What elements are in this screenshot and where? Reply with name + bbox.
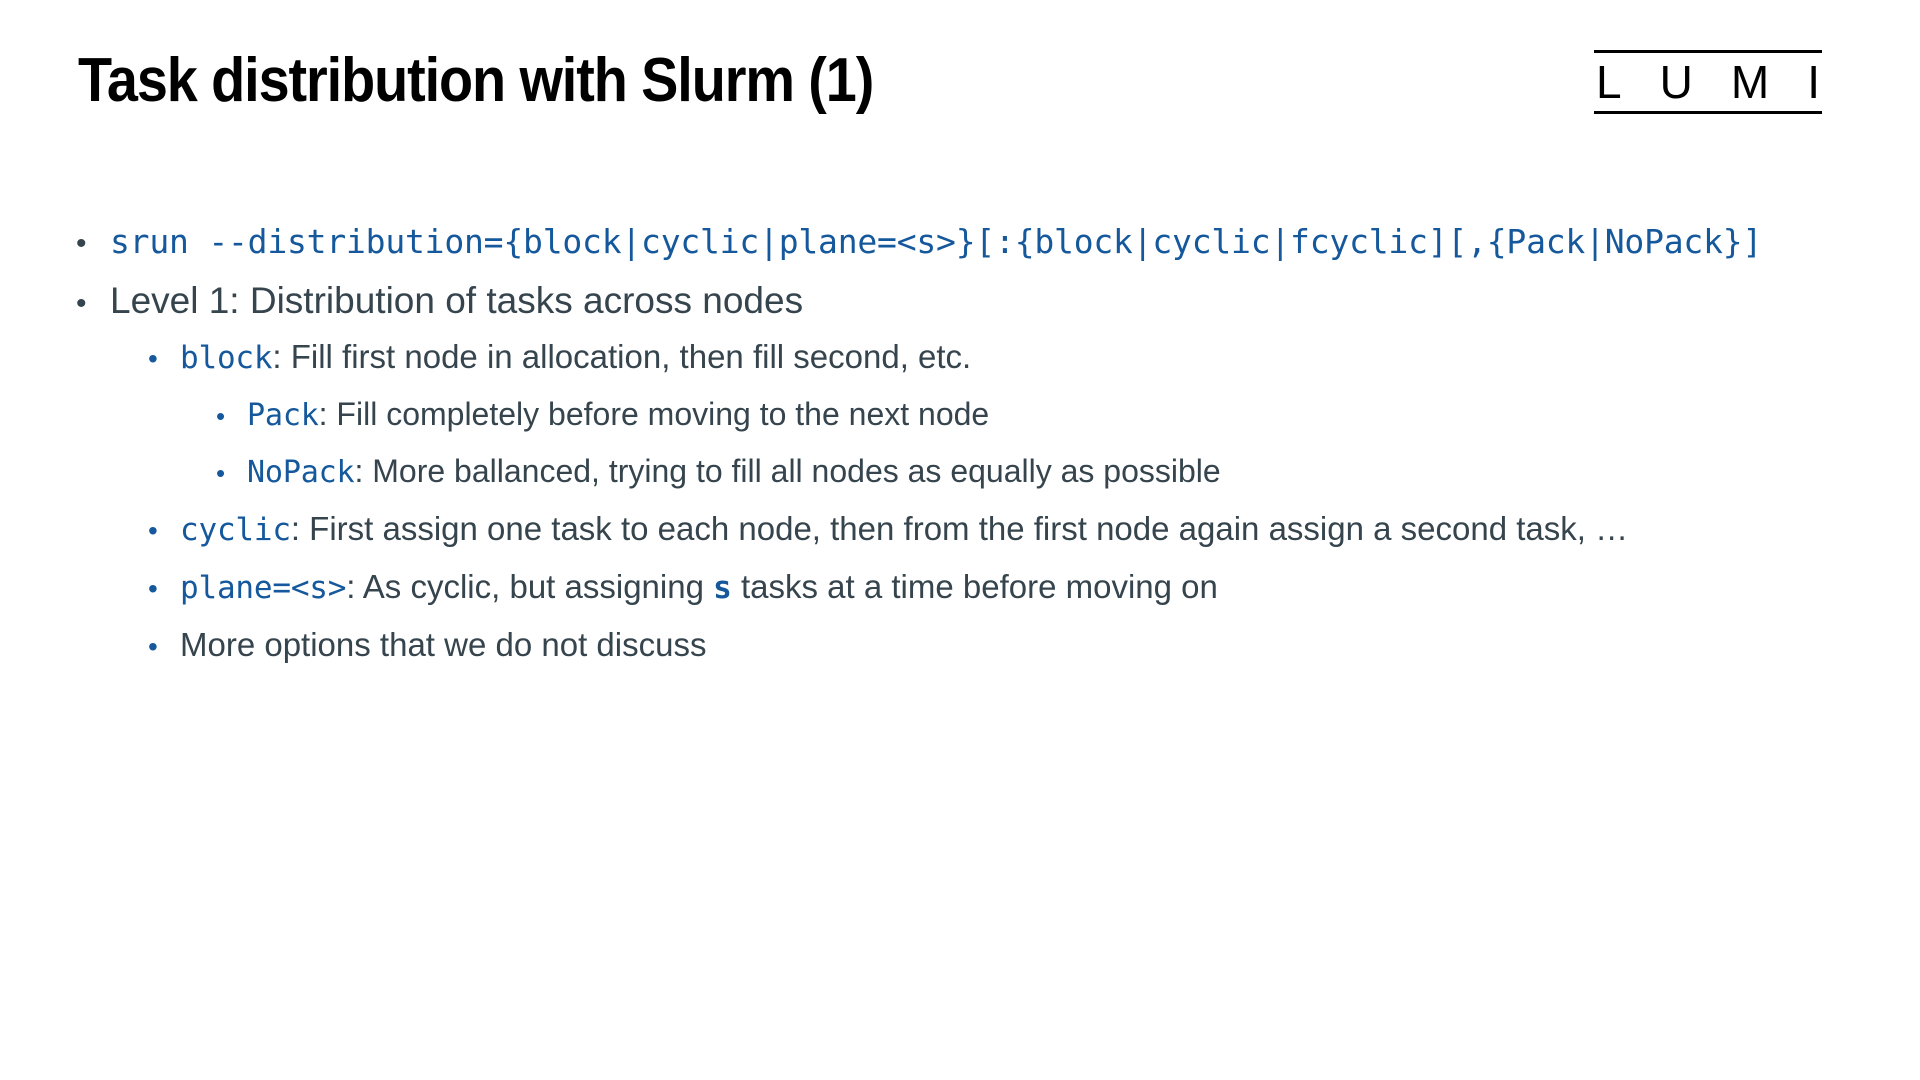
bullet-text: Pack: Fill completely before moving to t…: [247, 396, 989, 433]
bullet-keyword: NoPack: [247, 455, 354, 490]
bullet-text: NoPack: More ballanced, trying to fill a…: [247, 453, 1221, 490]
bullet-description: : More ballanced, trying to fill all nod…: [354, 453, 1220, 489]
bullet-description: : Fill first node in allocation, then fi…: [272, 338, 971, 375]
logo-letter-i: I: [1807, 56, 1820, 108]
bullet-item: •Level 1: Distribution of tasks across n…: [0, 280, 1920, 338]
bullet-text: cyclic: First assign one task to each no…: [180, 510, 1628, 548]
logo-letter-l: L: [1596, 56, 1622, 108]
bullet-inline-keyword: s: [713, 570, 732, 606]
bullet-item: •NoPack: More ballanced, trying to fill …: [0, 453, 1920, 510]
bullet-keyword: plane=<s>: [180, 570, 346, 606]
bullet-text: Level 1: Distribution of tasks across no…: [110, 280, 803, 322]
bullet-keyword: block: [180, 340, 272, 376]
bullet-marker-icon: •: [148, 633, 180, 661]
bullet-marker-icon: •: [216, 403, 247, 429]
logo-rule-bottom: [1594, 111, 1822, 114]
bullet-item: •plane=<s>: As cyclic, but assigning s t…: [0, 568, 1920, 626]
lumi-logo: L U M I: [1594, 42, 1822, 116]
bullet-description: : Fill completely before moving to the n…: [319, 396, 990, 432]
bullet-item: •More options that we do not discuss: [0, 626, 1920, 684]
bullet-marker-icon: •: [148, 517, 180, 545]
bullet-text: plane=<s>: As cyclic, but assigning s ta…: [180, 568, 1218, 606]
bullet-marker-icon: •: [216, 460, 247, 486]
bullet-description: : First assign one task to each node, th…: [291, 510, 1628, 547]
bullet-marker-icon: •: [76, 289, 110, 319]
bullet-text: More options that we do not discuss: [180, 626, 706, 664]
slide: Task distribution with Slurm (1) L U M I…: [0, 0, 1920, 1080]
bullet-description-tail: tasks at a time before moving on: [732, 568, 1218, 605]
bullet-keyword: cyclic: [180, 512, 291, 548]
logo-rule-top: [1594, 50, 1822, 53]
bullet-item: •srun --distribution={block|cyclic|plane…: [0, 222, 1920, 280]
page-title: Task distribution with Slurm (1): [78, 48, 873, 113]
bullet-text: block: Fill first node in allocation, th…: [180, 338, 971, 376]
bullet-item: •cyclic: First assign one task to each n…: [0, 510, 1920, 568]
bullet-text: srun --distribution={block|cyclic|plane=…: [110, 222, 1762, 261]
bullet-marker-icon: •: [76, 229, 110, 259]
bullet-item: •Pack: Fill completely before moving to …: [0, 396, 1920, 453]
bullet-item: •block: Fill first node in allocation, t…: [0, 338, 1920, 396]
bullet-keyword: Pack: [247, 398, 319, 433]
bullet-description: : As cyclic, but assigning: [346, 568, 713, 605]
bullet-marker-icon: •: [148, 575, 180, 603]
logo-letter-m: M: [1731, 56, 1769, 108]
bullet-list: •srun --distribution={block|cyclic|plane…: [0, 222, 1920, 684]
logo-letter-u: U: [1660, 56, 1693, 108]
logo-letters: L U M I: [1594, 56, 1822, 108]
bullet-marker-icon: •: [148, 345, 180, 373]
